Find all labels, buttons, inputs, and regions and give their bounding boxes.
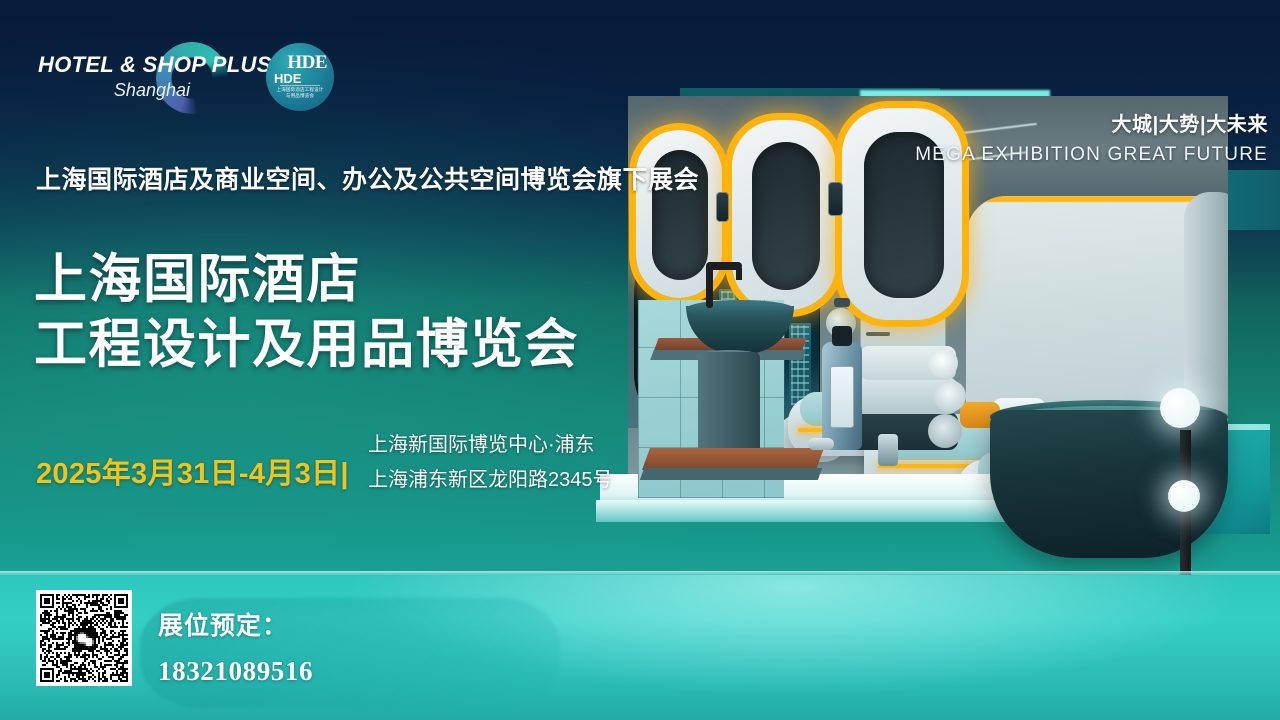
rolled-towel <box>928 414 962 448</box>
lamp-globe <box>1168 480 1200 512</box>
parent-event-label: 上海国际酒店及商业空间、办公及公共空间博览会旗下展会 <box>36 160 699 196</box>
tagline-chinese: 大城|大势|大未来 <box>915 108 1268 137</box>
event-dates: 2025年3月31日-4月3日| <box>36 450 349 492</box>
venue-line-2: 上海浦东新区龙阳路2345号 <box>368 463 613 498</box>
logo-sub-text: Shanghai <box>38 80 238 101</box>
pod-control-knob <box>834 298 850 307</box>
logo-wordmark: HOTEL & SHOP PLUS Shanghai <box>38 52 238 101</box>
sink-pedestal <box>698 352 760 456</box>
rolled-towel <box>934 380 966 412</box>
venue-block: 上海新国际博览中心·浦东 上海浦东新区龙阳路2345号 <box>368 428 613 498</box>
wood-shelf-lower <box>642 448 824 470</box>
hde-badge-logo[interactable]: HDE HDE 上海国际酒店工程设计 与用品博览会 <box>266 43 334 111</box>
bottle-cap <box>832 326 852 346</box>
hde-caption-line2: 与用品博览会 <box>266 93 334 99</box>
booth-booking-phone[interactable]: 18321089516 <box>158 656 313 687</box>
exhibition-banner: HOTEL & SHOP PLUS Shanghai HDE HDE 上海国际酒… <box>0 0 1280 720</box>
pod-control-screen <box>716 192 729 222</box>
wechat-qr-code[interactable] <box>36 590 132 686</box>
hde-sans-mark: HDE <box>274 71 301 86</box>
booth-booking-block: 展位预定： 18321089516 <box>158 606 313 687</box>
brand-logo-row[interactable]: HOTEL & SHOP PLUS Shanghai HDE HDE 上海国际酒… <box>38 40 334 114</box>
rolled-towel <box>928 348 958 378</box>
tagline-english: MEGA EXHIBITION GREAT FUTURE <box>915 144 1268 166</box>
door-handle <box>866 332 890 336</box>
pod-control-screen <box>828 182 843 216</box>
logo-main-text: HOTEL & SHOP PLUS <box>38 52 238 78</box>
hotel-shop-plus-logo[interactable]: HOTEL & SHOP PLUS Shanghai <box>38 40 244 114</box>
vessel-sink-rim <box>686 300 794 318</box>
venue-line-1: 上海新国际博览中心·浦东 <box>368 428 613 463</box>
tagline-block: 大城|大势|大未来 MEGA EXHIBITION GREAT FUTURE <box>915 108 1268 166</box>
title-line-1: 上海国际酒店 <box>34 248 579 313</box>
faucet <box>706 264 713 308</box>
title-line-2: 工程设计及用品博览会 <box>34 313 579 378</box>
page-title: 上海国际酒店 工程设计及用品博览会 <box>34 248 579 377</box>
bottle-label <box>830 366 854 428</box>
faucet-tip <box>736 268 742 280</box>
booth-booking-label: 展位预定： <box>158 606 313 642</box>
hde-divider <box>280 85 320 86</box>
soap-dish <box>808 438 834 450</box>
wood-shelf-lower-edge <box>640 468 822 480</box>
lamp-globe <box>1160 388 1200 428</box>
tumbler-cup <box>878 434 898 466</box>
qr-canvas <box>40 594 128 682</box>
pod-interior <box>752 142 820 290</box>
